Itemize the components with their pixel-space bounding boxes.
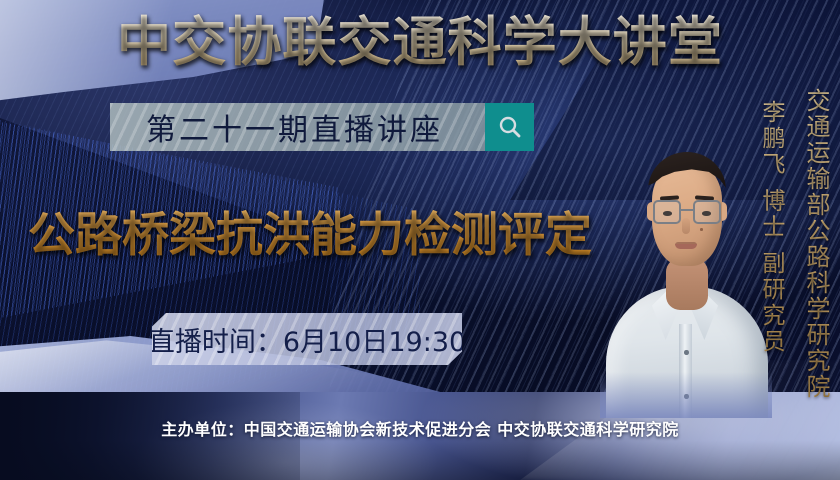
speaker-name-title-vertical: 李鹏飞 博士 副研究员 — [754, 100, 788, 355]
glasses-lens-right — [693, 200, 721, 224]
subtitle-bar: 第二十一期直播讲座 — [110, 103, 534, 151]
subtitle-text: 第二十一期直播讲座 — [110, 103, 485, 151]
portrait-bottom-fade — [600, 372, 772, 418]
organizer-text: 主办单位：中国交通运输协会新技术促进分会 中交协联交通科学研究院 — [0, 416, 840, 440]
live-time-text: 直播时间：6月10日19:30 — [152, 320, 462, 359]
portrait-nose — [682, 218, 690, 234]
glasses-bridge — [681, 209, 693, 211]
glasses-lens-left — [653, 200, 681, 224]
speaker-institute-vertical: 交通运输部公路科学研究院 — [799, 88, 834, 400]
speaker-portrait — [600, 118, 772, 418]
search-icon — [497, 114, 523, 140]
topic-title: 公路桥梁抗洪能力检测评定 — [28, 196, 648, 265]
poster-canvas: 中交协联交通科学大讲堂 中交协联交通科学大讲堂 第二十一期直播讲座 公路桥梁抗洪… — [0, 0, 840, 480]
portrait-mole — [700, 228, 703, 231]
live-time-box: 直播时间：6月10日19:30 — [152, 313, 462, 365]
portrait-mouth — [675, 244, 697, 249]
portrait-shirt-button — [684, 350, 689, 355]
search-icon-button[interactable] — [485, 103, 534, 151]
main-title: 中交协联交通科学大讲堂 — [0, 14, 840, 71]
